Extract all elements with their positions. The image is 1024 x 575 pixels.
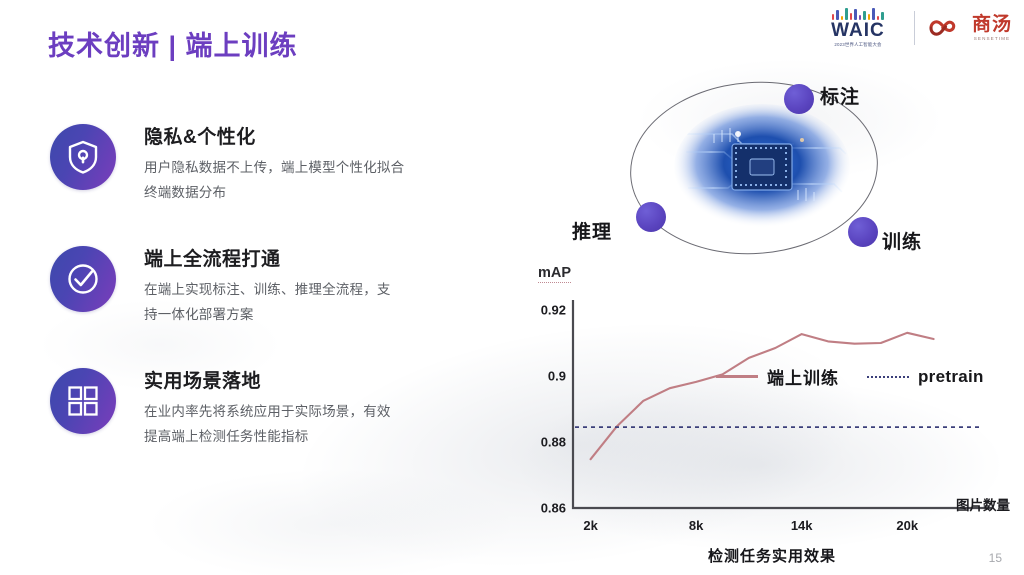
feature-item-pipeline: 端上全流程打通 在端上实现标注、训练、推理全流程，支 持一体化部署方案 — [44, 244, 474, 366]
feature-title: 隐私&个性化 — [144, 122, 474, 149]
legend-item-pretrain: pretrain — [867, 367, 984, 387]
chart-x-tick: 8k — [689, 518, 703, 533]
feature-item-privacy: 隐私&个性化 用户隐私数据不上传，端上模型个性化拟合 终端数据分布 — [44, 122, 474, 244]
chart-caption: 检测任务实用效果 — [520, 545, 1024, 566]
logo-divider — [914, 11, 915, 45]
sensetime-infinity-icon — [927, 17, 965, 39]
chart-legend: 端上训练 pretrain — [716, 364, 984, 389]
waic-subtitle: 2023世界人工智能大会 — [834, 42, 881, 49]
orbit-diagram: 标注 推理 训练 — [556, 62, 976, 272]
feature-title: 端上全流程打通 — [144, 244, 474, 271]
legend-swatch-dotted — [867, 376, 909, 378]
waic-wordmark: WAIC — [831, 21, 885, 40]
chart-x-tick: 20k — [896, 518, 918, 533]
chart-x-axis-label: 图片数量 — [956, 494, 1010, 514]
slide-root: 技术创新 | 端上训练 WAIC 2023世界人工智能大会 — [0, 0, 1024, 575]
orbit-node-label[interactable] — [784, 84, 814, 114]
circuit-chip-image — [674, 104, 850, 232]
orbit-node-inference-text: 推理 — [572, 217, 612, 244]
chart-x-tick: 14k — [791, 518, 813, 533]
legend-label: 端上训练 — [767, 364, 839, 389]
legend-swatch-solid — [716, 375, 758, 377]
feature-item-scenario: 实用场景落地 在业内率先将系统应用于实际场景，有效 提高端上检测任务性能指标 — [44, 366, 474, 488]
feature-title: 实用场景落地 — [144, 366, 474, 393]
orbit-node-label-text: 标注 — [820, 82, 860, 109]
orbit-node-training-text: 训练 — [882, 227, 922, 254]
map-line-chart: mAP 0.920.90.880.86 2k8k14k20k 图片数量 端上训练… — [520, 262, 1024, 575]
feature-list: 隐私&个性化 用户隐私数据不上传，端上模型个性化拟合 终端数据分布 端上全流程打… — [44, 122, 474, 488]
legend-label: pretrain — [918, 367, 984, 387]
orbit-node-training[interactable] — [848, 217, 878, 247]
feature-body-line: 在端上实现标注、训练、推理全流程，支 — [144, 278, 474, 303]
sensetime-cn-text: 商汤 — [972, 15, 1012, 34]
page-number: 15 — [989, 551, 1002, 565]
feature-body-line: 在业内率先将系统应用于实际场景，有效 — [144, 400, 474, 425]
feature-body: 在业内率先将系统应用于实际场景，有效 提高端上检测任务性能指标 — [144, 400, 474, 450]
shield-lock-icon — [50, 124, 116, 190]
sensetime-en-text: SENSETIME — [974, 36, 1010, 41]
logo-bar: WAIC 2023世界人工智能大会 商汤 SENSETIME — [814, 8, 1012, 49]
feature-body: 用户隐私数据不上传，端上模型个性化拟合 终端数据分布 — [144, 156, 474, 206]
feature-body-line: 终端数据分布 — [144, 181, 474, 206]
feature-body-line: 提高端上检测任务性能指标 — [144, 425, 474, 450]
orbit-node-inference[interactable] — [636, 202, 666, 232]
feature-body-line: 持一体化部署方案 — [144, 303, 474, 328]
check-circle-icon — [50, 246, 116, 312]
feature-body-line: 用户隐私数据不上传，端上模型个性化拟合 — [144, 156, 474, 181]
waic-dots-icon — [832, 8, 884, 20]
chart-x-tick: 2k — [583, 518, 597, 533]
legend-item-ondevice: 端上训练 — [716, 364, 839, 389]
grid-squares-icon — [50, 368, 116, 434]
page-title: 技术创新 | 端上训练 — [48, 24, 298, 63]
feature-body: 在端上实现标注、训练、推理全流程，支 持一体化部署方案 — [144, 278, 474, 328]
sensetime-logo: 商汤 SENSETIME — [927, 15, 1012, 41]
waic-logo: WAIC 2023世界人工智能大会 — [814, 8, 902, 49]
sensetime-wordmark: 商汤 SENSETIME — [972, 15, 1012, 41]
